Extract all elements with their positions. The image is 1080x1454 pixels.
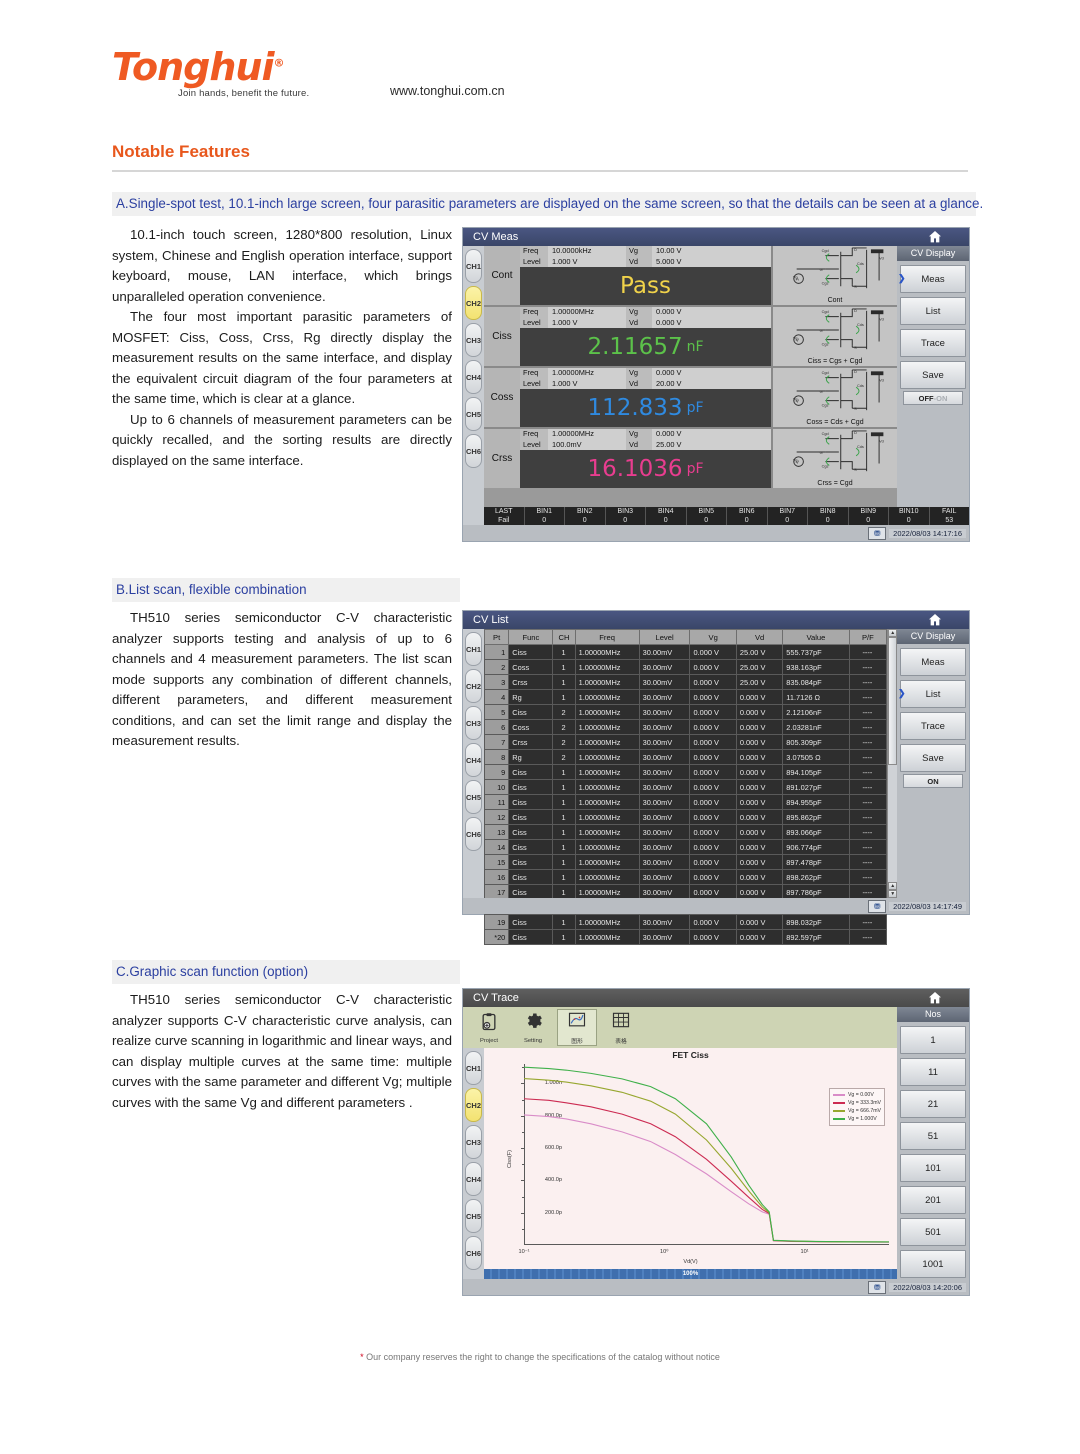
table-cell: ----: [849, 825, 887, 840]
table-row[interactable]: 13Ciss11.00000MHz30.00mV0.000 V0.000 V89…: [485, 825, 887, 840]
column-header: Value: [783, 630, 849, 645]
table-row[interactable]: 14Ciss11.00000MHz30.00mV0.000 V0.000 V90…: [485, 840, 887, 855]
table-cell: 5: [485, 705, 509, 720]
svg-text:G: G: [820, 268, 823, 272]
table-cell: 2.12106nF: [783, 705, 849, 720]
cv-trace-titlebar: CV Trace: [463, 989, 969, 1007]
bin-count: 0: [727, 516, 767, 525]
active-marker: ❯: [898, 688, 906, 699]
equivalent-circuit-diagram: CgdCdsCgs DSG VdVg V Crss = Cgd: [771, 429, 897, 488]
svg-text:Vd: Vd: [879, 317, 884, 321]
freq-key: Freq: [520, 246, 548, 257]
svg-text:S: S: [854, 468, 857, 472]
toolbar-item-gear-icon[interactable]: Setting: [513, 1009, 553, 1046]
table-cell: 892.597pF: [783, 930, 849, 945]
legend-entry: Vg = 0.00V: [833, 1091, 881, 1099]
toolbar-item-table-grid-icon[interactable]: 表格: [601, 1009, 641, 1046]
table-cell: Rg: [509, 750, 553, 765]
table-cell: 1.00000MHz: [575, 735, 639, 750]
bin-count: 0: [808, 516, 848, 525]
measurement-value: Pass: [520, 267, 771, 305]
measurement-row: CossFreq1.00000MHzVg0.000 VLevel1.000 VV…: [484, 368, 897, 429]
table-cell: 897.478pF: [783, 855, 849, 870]
legend-swatch: [833, 1102, 845, 1104]
svg-text:V: V: [796, 338, 800, 344]
channel-button-ch4[interactable]: CH4: [465, 360, 482, 394]
column-header: Vg: [690, 630, 736, 645]
table-cell: 30.00mV: [639, 810, 690, 825]
nos-button-201[interactable]: 201: [900, 1186, 966, 1214]
table-cell: 0.000 V: [690, 930, 736, 945]
progress-label: 100%: [683, 1271, 698, 1277]
table-cell: 30.00mV: [639, 870, 690, 885]
table-cell: 891.027pF: [783, 780, 849, 795]
channel-button-ch2[interactable]: CH2: [465, 669, 482, 703]
table-cell: 0.000 V: [690, 675, 736, 690]
table-cell: 894.955pF: [783, 795, 849, 810]
table-cell: 898.032pF: [783, 915, 849, 930]
home-icon[interactable]: [927, 990, 943, 1006]
footnote-text: Our company reserves the right to change…: [366, 1352, 720, 1362]
table-cell: 0.000 V: [736, 720, 782, 735]
legend-label: Vg = 333.3mV: [848, 1100, 881, 1106]
vd-key: Vd: [626, 379, 652, 390]
table-cell: 1.00000MHz: [575, 690, 639, 705]
freq-value: 1.00000MHz: [548, 368, 626, 379]
nos-button-51[interactable]: 51: [900, 1122, 966, 1150]
table-cell: 1.00000MHz: [575, 810, 639, 825]
bin-count: 0: [565, 516, 605, 525]
table-cell: 1: [553, 870, 575, 885]
measurement-value: 112.833pF: [520, 389, 771, 427]
chart-icon: [567, 1010, 587, 1035]
legend-swatch: [833, 1118, 845, 1120]
table-cell: 906.774pF: [783, 840, 849, 855]
table-cell: 1: [553, 690, 575, 705]
scroll-down-arrow[interactable]: ▲: [888, 882, 897, 890]
side-button-meas[interactable]: Meas: [900, 648, 966, 676]
condition-line: Level1.000 VVd5.000 V: [520, 257, 771, 268]
measurement-body: Freq1.00000MHzVg0.000 VLevel1.000 VVd20.…: [520, 368, 771, 427]
panel-title: CV Display: [897, 629, 969, 644]
table-cell: Ciss: [509, 795, 553, 810]
table-cell: 1: [553, 660, 575, 675]
bin-cell: BIN40: [646, 507, 687, 525]
table-cell: 1: [553, 780, 575, 795]
table-cell: Ciss: [509, 915, 553, 930]
bin-count: 0: [768, 516, 808, 525]
side-button-meas[interactable]: Meas: [900, 265, 966, 293]
table-row[interactable]: 2Coss11.00000MHz30.00mV0.000 V25.00 V938…: [485, 660, 887, 675]
bin-count: 0: [687, 516, 727, 525]
svg-text:S: S: [854, 346, 857, 350]
measurement-body: Freq10.0000kHzVg10.00 VLevel1.000 VVd5.0…: [520, 246, 771, 305]
curve-group: [484, 1048, 897, 1269]
svg-text:D: D: [854, 248, 857, 252]
svg-text:Cgd: Cgd: [822, 371, 829, 375]
circuit-caption: Cont: [773, 297, 897, 304]
table-cell: 15: [485, 855, 509, 870]
table-cell: 2: [553, 735, 575, 750]
svg-text:Cgs: Cgs: [822, 281, 829, 285]
table-cell: ----: [849, 765, 887, 780]
freq-value: 10.0000kHz: [548, 246, 626, 257]
channel-button-ch3[interactable]: CH3: [465, 1125, 482, 1159]
table-row[interactable]: 3Crss11.00000MHz30.00mV0.000 V25.00 V835…: [485, 675, 887, 690]
save-toggle[interactable]: ON: [903, 774, 963, 788]
measurement-body: Freq1.00000MHzVg0.000 VLevel100.0mVVd25.…: [520, 429, 771, 488]
table-cell: 0.000 V: [736, 870, 782, 885]
table-cell: 1.00000MHz: [575, 660, 639, 675]
table-cell: ----: [849, 750, 887, 765]
table-cell: 3: [485, 675, 509, 690]
table-cell: 0.000 V: [736, 690, 782, 705]
channel-button-ch6[interactable]: CH6: [465, 817, 482, 851]
table-cell: 4: [485, 690, 509, 705]
measurement-function-label: Ciss: [484, 307, 520, 366]
panel-title: CV Display: [897, 246, 969, 261]
table-cell: ----: [849, 870, 887, 885]
bin-count: 0: [646, 516, 686, 525]
measurement-row: CissFreq1.00000MHzVg0.000 VLevel1.000 VV…: [484, 307, 897, 368]
list-scrollbar[interactable]: ▲ ▲ ▼: [887, 629, 897, 898]
table-cell: 0.000 V: [690, 720, 736, 735]
channel-button-ch2[interactable]: CH2: [465, 1088, 482, 1122]
table-cell: Ciss: [509, 855, 553, 870]
circuit-caption: Coss = Cds + Cgd: [773, 419, 897, 426]
channel-bar-c: CH1CH2CH3CH4CH5CH6: [463, 1048, 484, 1295]
channel-button-ch5[interactable]: CH5: [465, 397, 482, 431]
bin-count: 0: [525, 516, 565, 525]
table-cell: 30.00mV: [639, 825, 690, 840]
save-toggle[interactable]: OFF-ON: [903, 391, 963, 405]
channel-button-ch3[interactable]: CH3: [465, 706, 482, 740]
paragraph: Up to 6 channels of measurement paramete…: [112, 410, 452, 472]
channel-button-ch1[interactable]: CH1: [465, 249, 482, 283]
svg-text:Cgd: Cgd: [822, 310, 829, 314]
column-header: Vd: [736, 630, 782, 645]
table-cell: 1: [553, 795, 575, 810]
gear-icon: [523, 1012, 543, 1037]
table-cell: 0.000 V: [690, 795, 736, 810]
channel-button-ch2[interactable]: CH2: [465, 286, 482, 320]
table-cell: 898.262pF: [783, 870, 849, 885]
table-row[interactable]: 9Ciss11.00000MHz30.00mV0.000 V0.000 V894…: [485, 765, 887, 780]
table-cell: 1: [553, 930, 575, 945]
table-cell: 30.00mV: [639, 675, 690, 690]
circuit-caption: Ciss = Cgs + Cgd: [773, 358, 897, 365]
condition-line: Level100.0mVVd25.00 V: [520, 440, 771, 451]
nos-button-101[interactable]: 101: [900, 1154, 966, 1182]
table-cell: ----: [849, 660, 887, 675]
svg-text:S: S: [854, 407, 857, 411]
channel-bar-b: CH1CH2CH3CH4CH5CH6: [463, 629, 484, 914]
measurement-value: 2.11657nF: [520, 328, 771, 366]
cv-meas-titlebar: CV Meas: [463, 228, 969, 246]
channel-button-ch5[interactable]: CH5: [465, 780, 482, 814]
trace-toolbar: ProjectSetting图形表格: [463, 1007, 897, 1049]
table-cell: ----: [849, 855, 887, 870]
registered-mark: ®: [274, 56, 284, 69]
legend-swatch: [833, 1110, 845, 1112]
vg-value: 0.000 V: [652, 429, 771, 440]
cv-list-screenshot: CV List CH1CH2CH3CH4CH5CH6 PtFuncCHFreqL…: [462, 610, 970, 915]
value-number: 112.833: [587, 395, 682, 421]
table-cell: 0.000 V: [690, 705, 736, 720]
table-cell: 0.000 V: [736, 840, 782, 855]
table-row[interactable]: 10Ciss11.00000MHz30.00mV0.000 V0.000 V89…: [485, 780, 887, 795]
nos-panel: Nos 11121511012015011001: [897, 1007, 969, 1279]
channel-button-ch1[interactable]: CH1: [465, 1051, 482, 1085]
x-tick-label: 10¹: [801, 1249, 809, 1255]
table-cell: 6: [485, 720, 509, 735]
table-cell: 0.000 V: [736, 855, 782, 870]
bin-label: BIN8: [808, 507, 848, 516]
bin-label: BIN7: [768, 507, 808, 516]
clipboard-add-icon: [479, 1012, 499, 1037]
bin-cell: BIN10: [525, 507, 566, 525]
table-cell: Ciss: [509, 645, 553, 660]
table-cell: 938.163pF: [783, 660, 849, 675]
table-row[interactable]: 7Crss21.00000MHz30.00mV0.000 V0.000 V805…: [485, 735, 887, 750]
column-header: CH: [553, 630, 575, 645]
toolbar-item-clipboard-add-icon[interactable]: Project: [469, 1009, 509, 1046]
page-title: Notable Features: [112, 142, 250, 162]
paragraph: 10.1-inch touch screen, 1280*800 resolut…: [112, 225, 452, 307]
table-cell: 30.00mV: [639, 705, 690, 720]
x-tick-label: 10⁰: [660, 1249, 668, 1255]
nos-button-11[interactable]: 11: [900, 1058, 966, 1086]
home-icon[interactable]: [927, 612, 943, 628]
channel-button-ch6[interactable]: CH6: [465, 1236, 482, 1270]
table-cell: 11.7126 Ω: [783, 690, 849, 705]
equivalent-circuit-diagram: CgdCdsCgs DSG VdVg V Ciss = Cgs + Cgd: [771, 307, 897, 366]
table-cell: 894.105pF: [783, 765, 849, 780]
measurement-function-label: Crss: [484, 429, 520, 488]
vg-key: Vg: [626, 246, 652, 257]
condition-line: Freq10.0000kHzVg10.00 V: [520, 246, 771, 257]
channel-button-ch3[interactable]: CH3: [465, 323, 482, 357]
vg-key: Vg: [626, 429, 652, 440]
table-row[interactable]: 5Ciss21.00000MHz30.00mV0.000 V0.000 V2.1…: [485, 705, 887, 720]
table-row[interactable]: 6Coss21.00000MHz30.00mV0.000 V0.000 V2.0…: [485, 720, 887, 735]
cv-display-panel-b: CV Display Meas❯ListTraceSaveON: [897, 629, 969, 898]
svg-text:Cgs: Cgs: [822, 464, 829, 468]
svg-text:A: A: [796, 277, 800, 283]
cv-trace-title: CV Trace: [473, 992, 519, 1004]
table-cell: 30.00mV: [639, 930, 690, 945]
table-row[interactable]: 16Ciss11.00000MHz30.00mV0.000 V0.000 V89…: [485, 870, 887, 885]
channel-button-ch4[interactable]: CH4: [465, 743, 482, 777]
cv-display-panel-a: CV Display ❯MeasListTraceSaveOFF-ON: [897, 246, 969, 525]
home-icon[interactable]: [927, 229, 943, 245]
table-cell: 1.00000MHz: [575, 870, 639, 885]
cv-list-title: CV List: [473, 614, 508, 626]
measurement-row: ContFreq10.0000kHzVg10.00 VLevel1.000 VV…: [484, 246, 897, 307]
table-cell: 893.066pF: [783, 825, 849, 840]
bin-count: 0: [606, 516, 646, 525]
scroll-thumb[interactable]: [888, 637, 897, 765]
value-number: 2.11657: [587, 334, 682, 360]
svg-text:G: G: [820, 329, 823, 333]
measurement-value: 16.1036pF: [520, 450, 771, 488]
bin-status-bar: LASTFailBIN10BIN20BIN30BIN40BIN50BIN60BI…: [484, 507, 969, 525]
bin-cell: BIN30: [606, 507, 647, 525]
vg-value: 0.000 V: [652, 307, 771, 318]
side-button-save[interactable]: Save: [900, 361, 966, 389]
cv-trace-screenshot: CV Trace ProjectSetting图形表格 CH1CH2CH3CH4…: [462, 988, 970, 1296]
svg-text:V: V: [796, 399, 800, 405]
table-cell: 0.000 V: [736, 795, 782, 810]
channel-button-ch6[interactable]: CH6: [465, 434, 482, 468]
table-row[interactable]: 12Ciss11.00000MHz30.00mV0.000 V0.000 V89…: [485, 810, 887, 825]
scroll-up-button[interactable]: ▲: [888, 629, 897, 637]
table-cell: 0.000 V: [690, 690, 736, 705]
legend-label: Vg = 666.7mV: [848, 1108, 881, 1114]
table-row[interactable]: 1Ciss11.00000MHz30.00mV0.000 V25.00 V555…: [485, 645, 887, 660]
table-cell: 25.00 V: [736, 660, 782, 675]
table-cell: 16: [485, 870, 509, 885]
side-button-list[interactable]: List: [900, 680, 966, 708]
table-cell: 8: [485, 750, 509, 765]
feature-b-heading: B.List scan, flexible combination: [112, 578, 460, 602]
mosfet-circuit-icon: CgdCdsCgs DSG VdVg V: [773, 368, 897, 414]
vg-key: Vg: [626, 368, 652, 379]
table-cell: 0.000 V: [690, 825, 736, 840]
timestamp: 2022/08/03 14:20:06: [889, 1283, 966, 1292]
vg-key: Vg: [626, 307, 652, 318]
svg-text:Cgd: Cgd: [822, 432, 829, 436]
status-bar-a: ⛃ 2022/08/03 14:17:16: [463, 525, 969, 541]
vd-value: 0.000 V: [652, 318, 771, 329]
cv-meas-title: CV Meas: [473, 231, 518, 243]
status-bar-c: ⛃ 2022/08/03 14:20:06: [463, 1279, 969, 1295]
table-cell: 1.00000MHz: [575, 915, 639, 930]
bin-count: Fail: [484, 516, 524, 525]
table-cell: ----: [849, 705, 887, 720]
value-unit: pF: [687, 461, 704, 477]
curve-vg-0-00v: [524, 1115, 889, 1242]
table-cell: Rg: [509, 690, 553, 705]
legend-entry: Vg = 333.3mV: [833, 1099, 881, 1107]
channel-button-ch5[interactable]: CH5: [465, 1199, 482, 1233]
vd-key: Vd: [626, 440, 652, 451]
table-grid-icon: [611, 1010, 631, 1035]
bin-label: BIN1: [525, 507, 565, 516]
catalog-page: Tonghui® Join hands, benefit the future.…: [0, 0, 1080, 1454]
usb-icon: ⛃: [868, 1281, 886, 1294]
table-row[interactable]: *20Ciss11.00000MHz30.00mV0.000 V0.000 V8…: [485, 930, 887, 945]
table-row[interactable]: 4Rg11.00000MHz30.00mV0.000 V0.000 V11.71…: [485, 690, 887, 705]
legend-entry: Vg = 666.7mV: [833, 1107, 881, 1115]
table-cell: 0.000 V: [736, 765, 782, 780]
timestamp: 2022/08/03 14:17:16: [889, 529, 966, 538]
table-row[interactable]: 8Rg21.00000MHz30.00mV0.000 V0.000 V3.075…: [485, 750, 887, 765]
svg-text:Cgs: Cgs: [822, 342, 829, 346]
table-cell: 895.862pF: [783, 810, 849, 825]
table-cell: 25.00 V: [736, 675, 782, 690]
side-button-trace[interactable]: Trace: [900, 712, 966, 740]
equivalent-circuit-diagram: CgdCdsCgs DSG VdVg V Coss = Cds + Cgd: [771, 368, 897, 427]
mosfet-circuit-icon: CgdCdsCgs DSG VdVg V: [773, 429, 897, 475]
nos-button-21[interactable]: 21: [900, 1090, 966, 1118]
paragraph: The four most important parasitic parame…: [112, 307, 452, 410]
page-header: Tonghui® Join hands, benefit the future.…: [112, 48, 972, 108]
toolbar-item-label: Project: [480, 1038, 498, 1044]
table-cell: 1.00000MHz: [575, 750, 639, 765]
table-cell: 805.309pF: [783, 735, 849, 750]
table-cell: *20: [485, 930, 509, 945]
table-cell: 1.00000MHz: [575, 840, 639, 855]
side-button-save[interactable]: Save: [900, 744, 966, 772]
table-cell: Ciss: [509, 825, 553, 840]
bin-cell: BIN50: [687, 507, 728, 525]
svg-text:Cds: Cds: [857, 384, 864, 388]
table-cell: 1.00000MHz: [575, 780, 639, 795]
bin-label: BIN5: [687, 507, 727, 516]
table-cell: Ciss: [509, 705, 553, 720]
level-value: 1.000 V: [548, 257, 626, 268]
table-cell: 25.00 V: [736, 645, 782, 660]
table-row[interactable]: 11Ciss11.00000MHz30.00mV0.000 V0.000 V89…: [485, 795, 887, 810]
trace-plot: FET Ciss Ciss(F) Vd(V) 200.0p400.0p600.0…: [484, 1048, 897, 1269]
channel-button-ch4[interactable]: CH4: [465, 1162, 482, 1196]
table-cell: Crss: [509, 675, 553, 690]
nos-button-1001[interactable]: 1001: [900, 1250, 966, 1278]
tonghui-logo: Tonghui® Join hands, benefit the future.: [112, 48, 309, 99]
footnote-mark: *: [360, 1352, 364, 1362]
cv-list-titlebar: CV List: [463, 611, 969, 629]
table-cell: 0.000 V: [690, 915, 736, 930]
status-bar-b: ⛃ 2022/08/03 14:17:49: [463, 898, 969, 914]
table-cell: 835.084pF: [783, 675, 849, 690]
table-cell: 30.00mV: [639, 780, 690, 795]
table-cell: 1.00000MHz: [575, 795, 639, 810]
table-cell: 0.000 V: [690, 735, 736, 750]
mosfet-circuit-icon: CgdCdsCgs DSG VdVg A: [773, 246, 897, 292]
table-cell: 2: [553, 705, 575, 720]
column-header: Freq: [575, 630, 639, 645]
toolbar-item-chart-icon[interactable]: 图形: [557, 1009, 597, 1046]
active-marker: ❯: [898, 273, 906, 284]
measurement-row: CrssFreq1.00000MHzVg0.000 VLevel100.0mVV…: [484, 429, 897, 488]
bin-cell: BIN20: [565, 507, 606, 525]
side-button-list[interactable]: List: [900, 297, 966, 325]
table-cell: 30.00mV: [639, 645, 690, 660]
toolbar-item-label: 图形: [571, 1036, 583, 1045]
level-key: Level: [520, 257, 548, 268]
nos-button-501[interactable]: 501: [900, 1218, 966, 1246]
bin-label: LAST: [484, 507, 524, 516]
channel-button-ch1[interactable]: CH1: [465, 632, 482, 666]
table-cell: Ciss: [509, 810, 553, 825]
side-button-trace[interactable]: Trace: [900, 329, 966, 357]
table-row[interactable]: 19Ciss11.00000MHz30.00mV0.000 V0.000 V89…: [485, 915, 887, 930]
level-value: 1.000 V: [548, 318, 626, 329]
table-cell: 1.00000MHz: [575, 720, 639, 735]
scroll-down-button[interactable]: ▼: [888, 890, 897, 898]
table-row[interactable]: 15Ciss11.00000MHz30.00mV0.000 V0.000 V89…: [485, 855, 887, 870]
condition-line: Level1.000 VVd0.000 V: [520, 318, 771, 329]
table-cell: 0.000 V: [736, 750, 782, 765]
bin-label: BIN6: [727, 507, 767, 516]
nos-button-1[interactable]: 1: [900, 1026, 966, 1054]
panel-title: Nos: [897, 1007, 969, 1022]
table-cell: 0.000 V: [736, 825, 782, 840]
svg-text:Cds: Cds: [857, 445, 864, 449]
value-number: 16.1036: [587, 456, 682, 482]
svg-text:Cds: Cds: [857, 323, 864, 327]
